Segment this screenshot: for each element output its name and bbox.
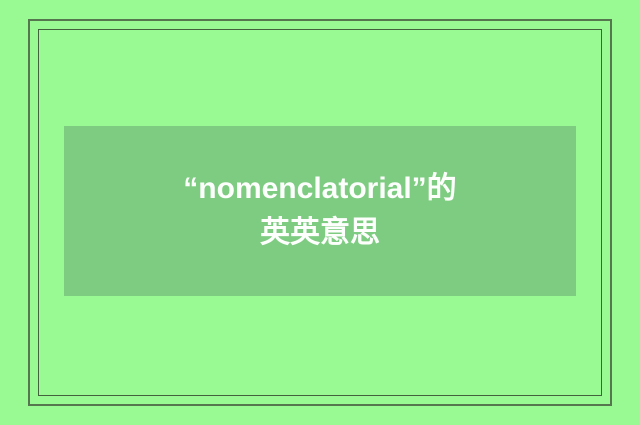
card-canvas: “nomenclatorial”的英英意思 <box>0 0 640 425</box>
title-banner-panel: “nomenclatorial”的英英意思 <box>64 126 576 296</box>
page-title: “nomenclatorial”的英英意思 <box>170 167 470 255</box>
